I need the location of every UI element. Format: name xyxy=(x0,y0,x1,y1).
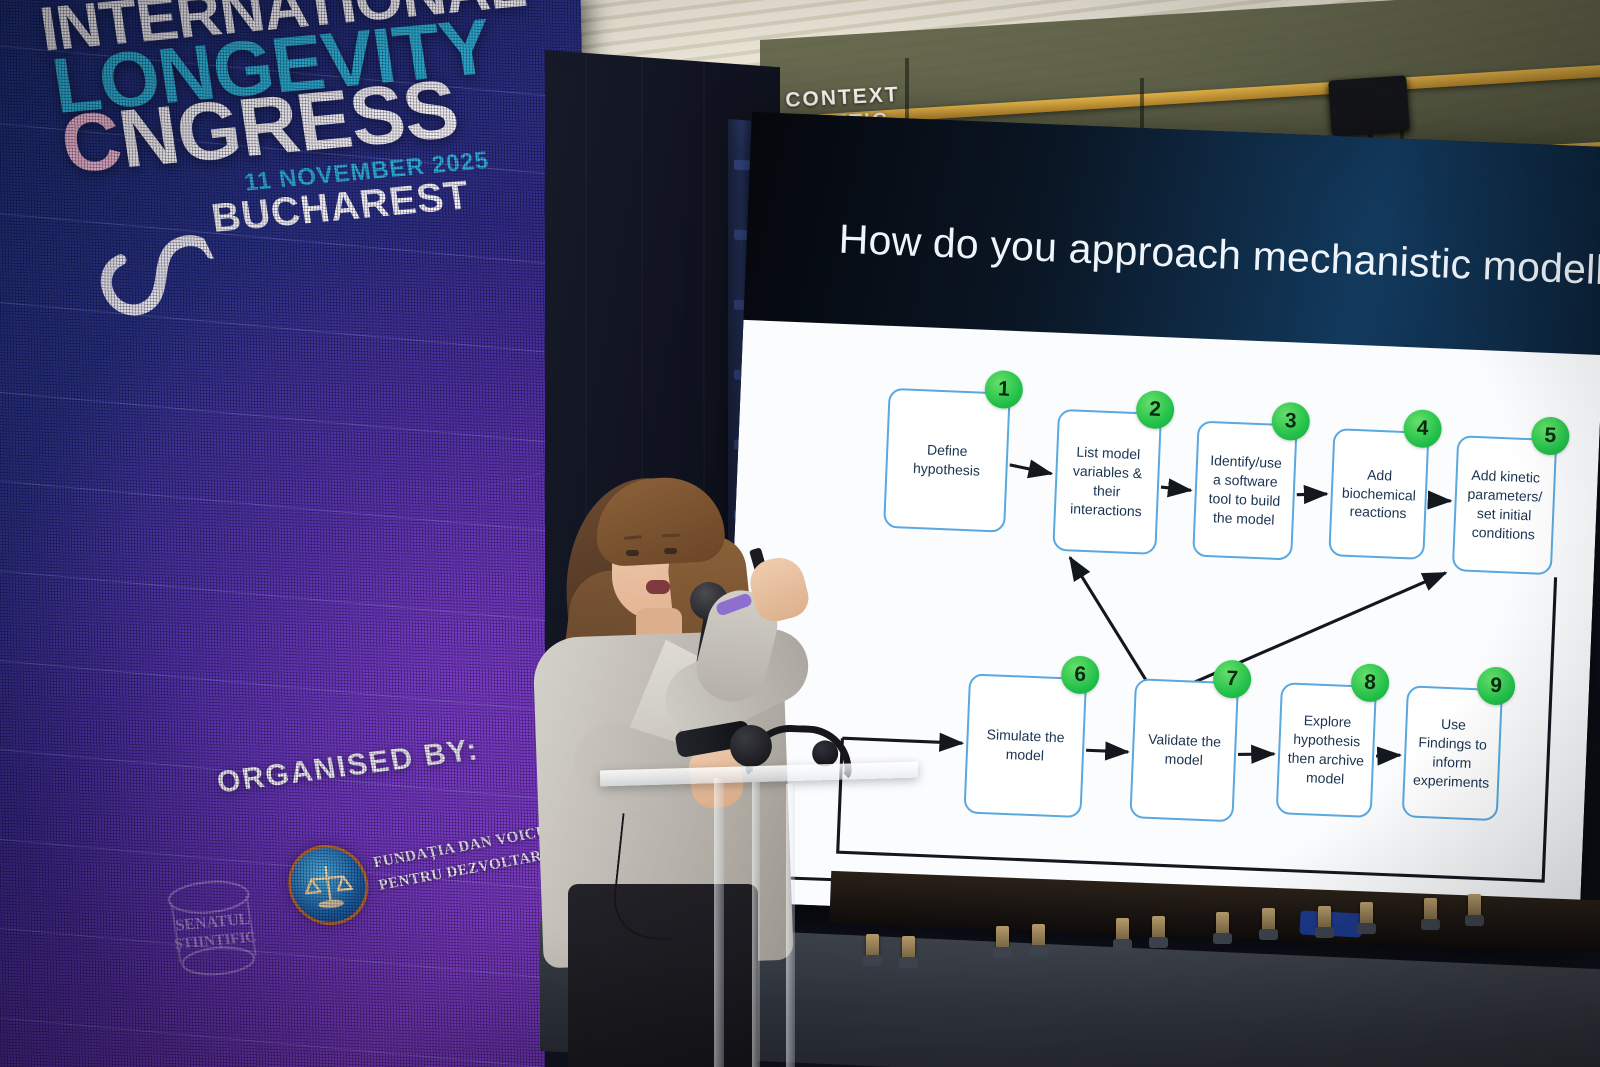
screen-support-foot xyxy=(1262,908,1275,934)
screen-support-foot xyxy=(866,934,879,960)
screen-support-foot xyxy=(1032,924,1045,950)
screen-support-foot xyxy=(996,926,1009,952)
flowchart-node-8: Explore hypothesis then archive model xyxy=(1276,682,1377,818)
flowchart-step-badge-8: 8 xyxy=(1350,663,1390,703)
screen-support-foot xyxy=(1152,916,1165,942)
flowchart-node-label: Simulate the model xyxy=(975,725,1076,767)
flowchart-node-label: Define hypothesis xyxy=(894,439,999,481)
flowchart-node-4: Add biochemical reactions xyxy=(1328,428,1429,560)
lectern-leg xyxy=(786,784,795,1067)
eye-left xyxy=(626,550,639,556)
flowchart-step-badge-4: 4 xyxy=(1403,409,1443,449)
flowchart-node-label: Add kinetic parameters/ set initial cond… xyxy=(1462,466,1547,545)
flowchart-node-label: Add biochemical reactions xyxy=(1339,464,1419,524)
flowchart-node-6: Simulate the model xyxy=(963,673,1087,818)
screen-support-foot xyxy=(902,936,915,962)
screen-support-foot xyxy=(1116,918,1129,944)
flowchart-step-badge-9: 9 xyxy=(1476,666,1516,706)
lectern-leg xyxy=(714,778,724,1067)
slide-body: Define hypothesis1List model variables &… xyxy=(720,320,1600,937)
flowchart-node-3: Identify/use a software tool to build th… xyxy=(1192,421,1297,561)
screen-support-foot xyxy=(1318,906,1331,932)
flowchart-step-badge-3: 3 xyxy=(1271,402,1311,442)
mouth xyxy=(646,580,670,594)
flowchart-node-label: Identify/use a software tool to build th… xyxy=(1202,451,1287,530)
flowchart-step-badge-7: 7 xyxy=(1212,659,1252,699)
flowchart-node-5: Add kinetic parameters/ set initial cond… xyxy=(1452,435,1557,575)
eye-right xyxy=(664,548,677,554)
flowchart-node-label: Use Findings to inform experiments xyxy=(1412,714,1493,793)
lectern-leg xyxy=(752,782,760,1067)
ceiling-loudspeaker xyxy=(1328,75,1410,135)
screen-support-foot xyxy=(1424,898,1437,924)
screenshot-root: CONTEXT ESTETIC INFORMAȚIE VIZUALĂ LITER… xyxy=(0,0,1600,1067)
screen-support-foot xyxy=(1468,894,1481,920)
flowchart-node-label: List model variables & their interaction… xyxy=(1063,442,1152,521)
flowchart-step-badge-5: 5 xyxy=(1531,416,1571,456)
led-pixel-grid xyxy=(0,0,604,1067)
flowchart-step-badge-6: 6 xyxy=(1060,655,1100,695)
screen-support-foot xyxy=(1360,902,1373,928)
flowchart-node-7: Validate the model xyxy=(1129,678,1239,822)
lapel-mic-cable xyxy=(610,813,684,941)
flowchart-canvas: Define hypothesis1List model variables &… xyxy=(720,320,1600,937)
flowchart-node-2: List model variables & their interaction… xyxy=(1052,409,1162,555)
flowchart-node-label: Validate the model xyxy=(1140,730,1227,771)
presentation-screen: How do you approach mechanistic modellin… xyxy=(720,112,1600,937)
flowchart-node-9: Use Findings to inform experiments xyxy=(1402,685,1503,821)
flowchart-node-1: Define hypothesis xyxy=(883,388,1011,533)
flowchart-node-label: Explore hypothesis then archive model xyxy=(1286,711,1367,790)
screen-support-foot xyxy=(1216,912,1229,938)
led-banner-wall: INTERNATIONAL LONGEVITY CNGRESS 11 NOVEM… xyxy=(0,0,604,1067)
flowchart-step-badge-2: 2 xyxy=(1135,390,1175,430)
flowchart-step-badge-1: 1 xyxy=(984,370,1024,410)
